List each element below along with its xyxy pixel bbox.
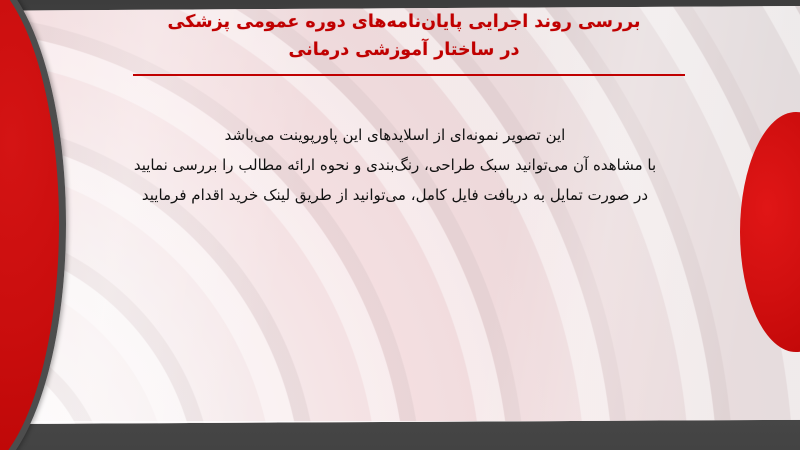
slide-body-line-2: با مشاهده آن می‌توانید سبک طراحی، رنگ‌بن… — [50, 150, 740, 180]
title-underline — [133, 74, 685, 76]
slide-body-line-3: در صورت تمایل به دریافت فایل کامل، می‌تو… — [50, 180, 740, 210]
slide-body-text: این تصویر نمونه‌ای از اسلایدهای این پاور… — [50, 120, 740, 210]
slide-body-line-1: این تصویر نمونه‌ای از اسلایدهای این پاور… — [50, 120, 740, 150]
presentation-slide: بررسی روند اجرایی پایان‌نامه‌های دوره عم… — [0, 0, 800, 450]
slide-title-line-2: در ساختار آموزشی درمانی — [104, 36, 704, 64]
slide-content-panel — [0, 6, 800, 424]
slide-title-line-1: بررسی روند اجرایی پایان‌نامه‌های دوره عم… — [104, 8, 704, 36]
slide-title: بررسی روند اجرایی پایان‌نامه‌های دوره عم… — [104, 8, 704, 64]
panel-background-arcs — [0, 6, 800, 424]
